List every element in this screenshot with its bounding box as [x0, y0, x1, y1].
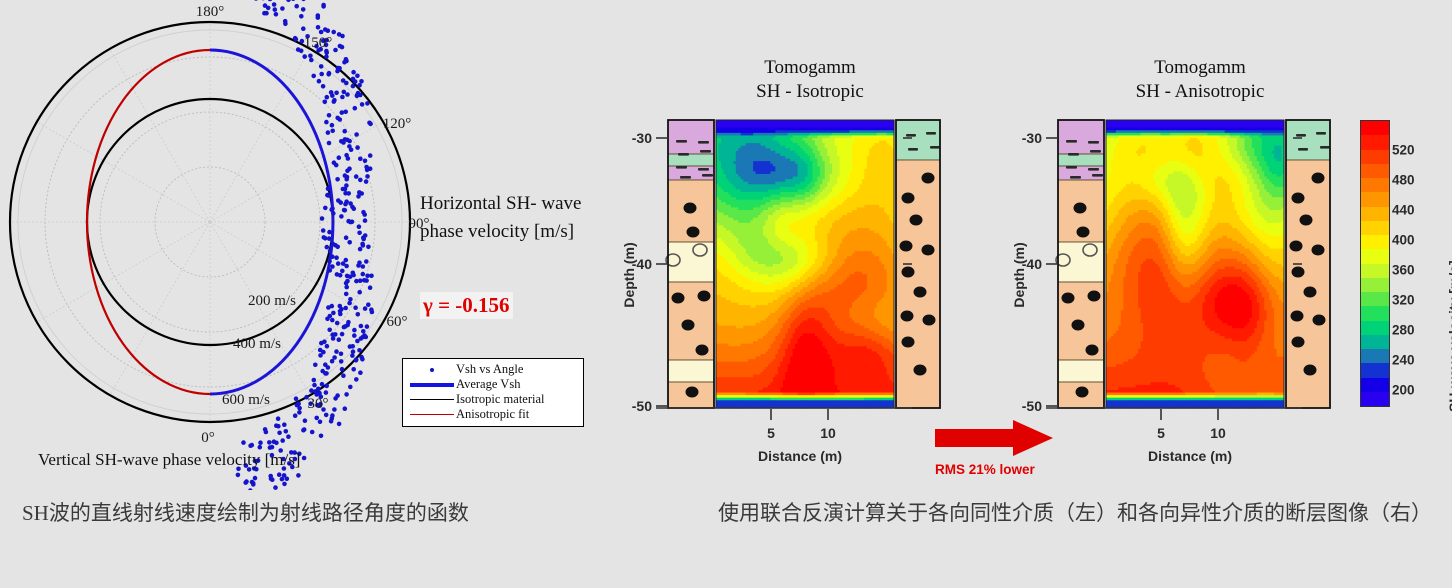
- lithology-layer: [1058, 120, 1104, 154]
- caption-right: 使用联合反演计算关于各向同性介质（左）和各向异性介质的断层图像（右）: [718, 498, 1438, 530]
- colorbar-tick-240: 240: [1392, 353, 1415, 368]
- lithology-layer: [1286, 120, 1330, 160]
- lithology-clast: [1312, 173, 1325, 184]
- legend-key-dot-icon: [408, 368, 456, 372]
- lithology-clast: [1088, 291, 1101, 302]
- tomogram-panel-anisotropic: Tomogamm SH - Anisotropic -30 -40 -50 5 …: [1010, 50, 1370, 490]
- colorbar-band: [1361, 349, 1389, 363]
- colorbar-band: [1361, 121, 1389, 135]
- lithology-clast: [1290, 241, 1303, 252]
- lithology-dash: [698, 168, 709, 171]
- colorbar-panel: 520480440400360320280240200 SH-wave velo…: [1360, 120, 1390, 407]
- lithology-dash: [702, 174, 713, 177]
- lithology-clast: [922, 245, 935, 256]
- lithology-layer: [1058, 360, 1104, 382]
- colorbar-band: [1361, 150, 1389, 164]
- lithology-clast: [1292, 337, 1305, 348]
- legend-key-line-icon: [408, 383, 456, 387]
- lithology-dash: [1068, 153, 1079, 156]
- lithology-dash: [908, 148, 918, 151]
- lithology-clast: [1313, 315, 1326, 326]
- colorbar-gradient: [1360, 120, 1390, 407]
- colorbar-tick-200: 200: [1392, 383, 1415, 398]
- lithology-clast: [1292, 267, 1305, 278]
- tomogram-panel-isotropic: Tomogamm SH - Isotropic -30 -40: [620, 50, 980, 490]
- colorbar-band: [1361, 264, 1389, 278]
- lithology-dash: [926, 132, 936, 135]
- lithology-layer: [896, 120, 940, 160]
- lithology-layer: [668, 154, 714, 166]
- lithology-clast: [902, 193, 915, 204]
- lithology-dash: [930, 146, 940, 149]
- colorbar-tick-360: 360: [1392, 263, 1415, 278]
- lithology-clast: [1312, 245, 1325, 256]
- colorbar-band: [1361, 392, 1389, 406]
- lithology-dash: [1066, 166, 1077, 169]
- colorbar-tick-280: 280: [1392, 323, 1415, 338]
- colorbar-band: [1361, 378, 1389, 392]
- lithology-layer: [1058, 154, 1104, 166]
- lithology-clast: [1077, 227, 1090, 238]
- rms-annotation-label: RMS 21% lower: [935, 462, 1035, 477]
- lithology-clast: [914, 287, 927, 298]
- angle-label-60: 60°: [387, 314, 408, 330]
- lithology-dash: [676, 166, 687, 169]
- lithology-dash: [700, 150, 711, 153]
- lithology-clast: [696, 345, 709, 356]
- legend-label-vsh-vs-angle: Vsh vs Angle: [456, 362, 523, 377]
- lithology-dash: [1092, 174, 1103, 177]
- tomo2-title-line1: Tomogamm: [1050, 56, 1350, 80]
- lithology-dash: [1316, 132, 1326, 135]
- radial-label-200: 200 m/s: [248, 293, 296, 309]
- tomo1-ytick--50: -50: [632, 398, 652, 414]
- lithology-clast: [922, 173, 935, 184]
- lithology-dash: [1090, 150, 1101, 153]
- colorbar-band: [1361, 192, 1389, 206]
- lithology-clast: [1062, 293, 1075, 304]
- gamma-value-label: γ = -0.156: [420, 292, 513, 319]
- tomo2-ytick--30: -30: [1022, 130, 1042, 146]
- lithology-dash: [1320, 146, 1330, 149]
- lithology-clast: [1291, 311, 1304, 322]
- tomo2-y-axis-label: Depth (m): [1011, 242, 1027, 307]
- lithology-clast: [1072, 320, 1085, 331]
- tomo2-x-axis-label: Distance (m): [1148, 448, 1232, 464]
- colorbar-tick-440: 440: [1392, 203, 1415, 218]
- lithology-clast: [910, 215, 923, 226]
- colorbar-tick-400: 400: [1392, 233, 1415, 248]
- colorbar-band: [1361, 292, 1389, 306]
- tomo1-x-axis-label: Distance (m): [758, 448, 842, 464]
- polar-legend: Vsh vs Angle Average Vsh Isotropic mater…: [402, 358, 584, 427]
- lithology-clast: [1076, 387, 1089, 398]
- tomo2-xtick-5: 5: [1157, 425, 1165, 441]
- colorbar-band: [1361, 135, 1389, 149]
- lithology-clast: [1292, 193, 1305, 204]
- colorbar-tick-480: 480: [1392, 173, 1415, 188]
- colorbar-tick-320: 320: [1392, 293, 1415, 308]
- lithology-clast: [1074, 203, 1087, 214]
- colorbar-band: [1361, 306, 1389, 320]
- lithology-dash: [1296, 134, 1306, 137]
- legend-item-vsh-vs-angle: Vsh vs Angle: [408, 362, 578, 377]
- colorbar-tick-520: 520: [1392, 143, 1415, 158]
- lithology-clast: [914, 365, 927, 376]
- lithology-clast: [901, 311, 914, 322]
- tomo1-y-axis-label: Depth (m): [621, 242, 637, 307]
- lithology-clast: [923, 315, 936, 326]
- lithology-dash: [680, 176, 691, 179]
- colorbar-axis-label: SH-wave velocity [m/s]: [1446, 260, 1452, 412]
- lithology-dash: [906, 134, 916, 137]
- legend-key-line-icon: [408, 414, 456, 416]
- lithology-clast: [686, 387, 699, 398]
- lithology-dash: [678, 153, 689, 156]
- colorbar-band: [1361, 207, 1389, 221]
- colorbar-band: [1361, 335, 1389, 349]
- lithology-clast: [698, 291, 711, 302]
- borehole-log-right-1: [896, 120, 940, 408]
- caption-left: SH波的直线射线速度绘制为射线路径角度的函数: [22, 498, 582, 530]
- angle-label-180: 180°: [196, 4, 225, 20]
- colorbar-band: [1361, 178, 1389, 192]
- colorbar-band: [1361, 221, 1389, 235]
- colorbar-band: [1361, 363, 1389, 377]
- lithology-clast: [1304, 365, 1317, 376]
- colorbar-band: [1361, 164, 1389, 178]
- lithology-clast: [902, 267, 915, 278]
- colorbar-band: [1361, 321, 1389, 335]
- lithology-dash: [1066, 140, 1077, 143]
- tomo1-title-line2: SH - Isotropic: [660, 80, 960, 104]
- lithology-clast: [672, 293, 685, 304]
- tomo2-ytick--50: -50: [1022, 398, 1042, 414]
- lithology-clast: [902, 337, 915, 348]
- lithology-clast: [1304, 287, 1317, 298]
- lithology-clast: [687, 227, 700, 238]
- legend-item-isotropic-material: Isotropic material: [408, 392, 578, 407]
- tomo2-title-line2: SH - Anisotropic: [1050, 80, 1350, 104]
- legend-label-anisotropic-fit: Anisotropic fit: [456, 407, 529, 422]
- tomo1-xtick-10: 10: [820, 425, 836, 441]
- legend-label-average-vsh: Average Vsh: [456, 377, 520, 392]
- lithology-clast: [1300, 215, 1313, 226]
- radial-label-600: 600 m/s: [222, 392, 270, 408]
- lithology-dash: [698, 141, 709, 144]
- colorbar-band: [1361, 278, 1389, 292]
- polar-side-caption: Horizontal SH- wave phase velocity [m/s]: [420, 190, 585, 245]
- borehole-log-right-2: [1286, 120, 1330, 408]
- polar-x-axis-caption: Vertical SH-wave phase velocity [m/s]: [38, 450, 300, 470]
- legend-item-average-vsh: Average Vsh: [408, 377, 578, 392]
- lithology-clast: [682, 320, 695, 331]
- angle-label-120: 120°: [383, 116, 412, 132]
- tomo1-title-line1: Tomogamm: [660, 56, 960, 80]
- tomo2-xtick-10: 10: [1210, 425, 1226, 441]
- tomo1-xtick-5: 5: [767, 425, 775, 441]
- colorbar-band: [1361, 249, 1389, 263]
- lithology-dash: [1298, 148, 1308, 151]
- borehole-log-left-2: [1056, 120, 1104, 408]
- colorbar-band: [1361, 235, 1389, 249]
- lithology-dash: [1088, 168, 1099, 171]
- tomogram1-svg: -30 -40 -50 5 10 Distance (m) Depth (m): [620, 110, 980, 490]
- lithology-dash: [1088, 141, 1099, 144]
- lithology-dash: [1070, 176, 1081, 179]
- angle-label-0: 0°: [201, 430, 215, 446]
- legend-key-line-icon: [408, 399, 456, 401]
- lithology-dash: [676, 140, 687, 143]
- lithology-clast: [1086, 345, 1099, 356]
- angle-label-30: 30°: [308, 396, 329, 412]
- borehole-log-left-1: [666, 120, 714, 408]
- lithology-clast: [900, 241, 913, 252]
- radial-label-400: 400 m/s: [233, 336, 281, 352]
- legend-item-anisotropic-fit: Anisotropic fit: [408, 407, 578, 422]
- rms-arrow-icon: [935, 420, 1055, 456]
- legend-label-isotropic-material: Isotropic material: [456, 392, 545, 407]
- tomo1-ytick--30: -30: [632, 130, 652, 146]
- angle-label-150: 150°: [304, 35, 333, 51]
- lithology-layer: [668, 360, 714, 382]
- lithology-clast: [684, 203, 697, 214]
- lithology-layer: [668, 120, 714, 154]
- tomogram2-svg: -30 -40 -50 5 10 Distance (m) Depth (m): [1010, 110, 1370, 490]
